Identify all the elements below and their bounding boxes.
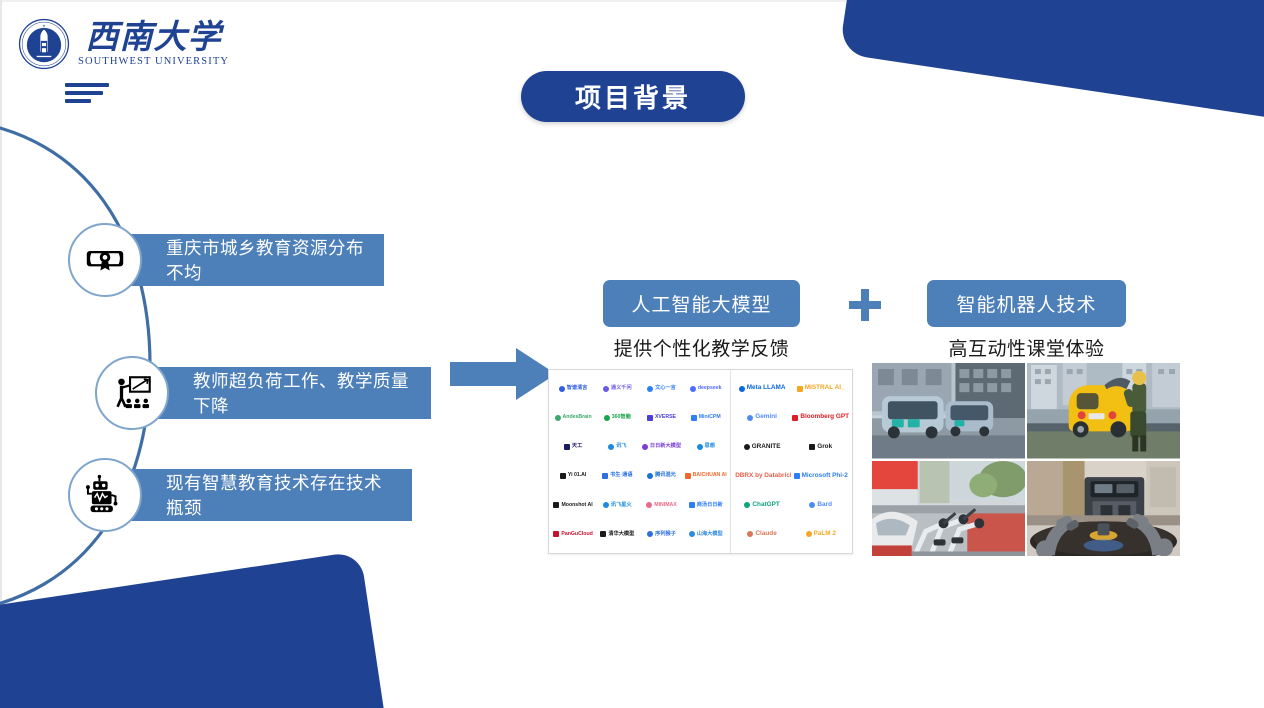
model-mark-icon — [794, 473, 800, 479]
university-logo: ★ 西南大学 SOUTHWEST UNIVERSITY — [18, 18, 229, 70]
model-logo-label: Moonshot AI — [561, 503, 592, 508]
model-logo-label: 序列猴子 — [655, 532, 676, 537]
model-logo-label: MiniCPM — [699, 415, 721, 420]
model-mark-icon — [604, 415, 610, 421]
model-mark-icon — [809, 444, 815, 450]
model-mark-icon — [744, 502, 750, 508]
problem-icon-wrap-2 — [95, 356, 169, 430]
model-logo-label: XVERSE — [655, 415, 676, 420]
domestic-model-logo: 序列猴子 — [639, 520, 683, 549]
model-logo-label: 腾讯混元 — [655, 473, 676, 478]
photo-coffee-robot-arms — [1027, 461, 1180, 557]
model-mark-icon — [646, 502, 652, 508]
model-logo-label: 智谱清言 — [567, 386, 588, 391]
decor-shape-top-right — [839, 0, 1264, 124]
technology-block-robot: 智能机器人技术 高互动性课堂体验 — [927, 280, 1126, 361]
model-logo-label: Claude — [755, 531, 776, 538]
model-logo-label: 讯飞 — [616, 444, 626, 449]
domestic-model-logo: Yi 01.AI — [551, 461, 595, 490]
university-seal-icon: ★ — [18, 18, 70, 70]
international-model-logo: Grok — [791, 432, 850, 461]
international-model-logo: DBRX by Databricks — [733, 461, 792, 490]
model-mark-icon — [642, 444, 648, 450]
model-mark-icon — [697, 444, 703, 450]
model-mark-icon — [553, 531, 559, 537]
international-model-logo: Microsoft Phi-2 — [791, 461, 850, 490]
university-name-cn: 西南大学 — [86, 21, 222, 56]
model-logo-label: deepseek — [698, 386, 722, 391]
international-model-logo: PaLM 2 — [791, 520, 850, 549]
model-logo-label: Yi 01.AI — [568, 473, 587, 478]
model-logo-label: 讯飞星火 — [611, 503, 632, 508]
international-model-logo: Meta LLAMA — [733, 374, 792, 403]
model-mark-icon — [792, 415, 798, 421]
domestic-model-logo: 商汤日日新 — [684, 491, 728, 520]
model-logo-label: Bard — [817, 502, 832, 509]
model-mark-icon — [747, 531, 753, 537]
diploma-icon — [84, 239, 126, 281]
model-logo-label: 360智脑 — [612, 415, 631, 420]
right-arrow-icon — [450, 348, 556, 400]
domestic-model-logo: 讯飞 — [595, 432, 639, 461]
photo-robotic-arms-outdoor — [872, 461, 1025, 557]
svg-text:★: ★ — [42, 24, 46, 28]
model-logo-label: 清华大模型 — [608, 532, 634, 537]
model-logo-label: MINIMAX — [654, 503, 676, 508]
model-mark-icon — [689, 502, 695, 508]
technology-title-ai: 人工智能大模型 — [603, 280, 800, 327]
problem-icon-wrap-1 — [68, 223, 142, 297]
model-mark-icon — [647, 415, 653, 421]
model-mark-icon — [797, 386, 803, 392]
photo-autonomous-shuttle-buses — [872, 363, 1025, 459]
domestic-model-logos: 智谱清言通义千问文心一言deepseekAndesBrain360智脑XVERS… — [549, 370, 731, 553]
model-mark-icon — [744, 444, 750, 450]
international-model-logo: ChatGPT — [733, 491, 792, 520]
model-mark-icon — [647, 473, 653, 479]
domestic-model-logo: 日日新大模型 — [639, 432, 683, 461]
university-name-en: SOUTHWEST UNIVERSITY — [78, 56, 229, 67]
domestic-model-logo: 通义千问 — [595, 374, 639, 403]
model-logo-label: PanGuCloud — [561, 532, 592, 537]
model-mark-icon — [564, 444, 570, 450]
slide-root: ★ 西南大学 SOUTHWEST UNIVERSITY 项目背景 重庆市城乡教育… — [0, 0, 1264, 708]
technology-subtitle-ai: 提供个性化教学反馈 — [603, 334, 800, 361]
domestic-model-logo: 天工 — [551, 432, 595, 461]
teacher-icon — [111, 372, 153, 414]
technology-block-ai: 人工智能大模型 提供个性化教学反馈 — [603, 280, 800, 361]
model-logo-label: 通义千问 — [611, 386, 632, 391]
domestic-model-logo: Moonshot AI — [551, 491, 595, 520]
model-mark-icon — [809, 502, 815, 508]
model-mark-icon — [739, 386, 745, 392]
model-mark-icon — [647, 531, 653, 537]
domestic-model-logo: PanGuCloud — [551, 520, 595, 549]
model-logo-label: 商汤日日新 — [697, 503, 723, 508]
model-logo-label: Meta LLAMA — [747, 385, 786, 392]
domestic-model-logo: 思想 — [684, 432, 728, 461]
technology-subtitle-robot: 高互动性课堂体验 — [927, 334, 1126, 361]
model-mark-icon — [690, 386, 696, 392]
model-mark-icon — [559, 386, 565, 392]
model-logo-label: 思想 — [705, 444, 715, 449]
robot-icon — [84, 474, 126, 516]
plus-icon — [849, 289, 881, 321]
model-logo-label: Bloomberg GPT — [800, 414, 849, 421]
model-mark-icon — [806, 531, 812, 537]
international-model-logo: Bloomberg GPT — [791, 403, 850, 432]
model-logo-label: ChatGPT — [752, 502, 779, 509]
model-logo-label: BAICHUAN AI — [693, 473, 727, 478]
model-mark-icon — [560, 473, 566, 479]
model-logo-label: Microsoft Phi-2 — [802, 473, 848, 480]
model-mark-icon — [747, 415, 753, 421]
domestic-model-logo: 清华大模型 — [595, 520, 639, 549]
page-title-text: 项目背景 — [575, 78, 691, 115]
model-mark-icon — [600, 531, 606, 537]
model-logo-label: Gemini — [755, 414, 777, 421]
international-model-logo: Claude — [733, 520, 792, 549]
photo-yellow-delivery-robot — [1027, 363, 1180, 459]
international-model-logo: MISTRAL AI_ — [791, 374, 850, 403]
problem-label-2: 教师超负荷工作、教学质量下降 — [131, 367, 431, 419]
domestic-model-logo: BAICHUAN AI — [684, 461, 728, 490]
model-mark-icon — [647, 386, 653, 392]
model-mark-icon — [553, 502, 559, 508]
model-mark-icon — [555, 415, 561, 421]
model-logo-label: 书生·通语 — [610, 473, 632, 478]
problem-label-1: 重庆市城乡教育资源分布不均 — [104, 234, 384, 286]
problem-icon-wrap-3 — [68, 458, 142, 532]
model-mark-icon — [608, 444, 614, 450]
domestic-model-logo: deepseek — [684, 374, 728, 403]
model-mark-icon — [602, 473, 608, 479]
domestic-model-logo: XVERSE — [639, 403, 683, 432]
domestic-model-logo: AndesBrain — [551, 403, 595, 432]
domestic-model-logo: MINIMAX — [639, 491, 683, 520]
robot-photo-grid — [872, 363, 1180, 556]
model-logo-label: AndesBrain — [563, 415, 592, 420]
model-mark-icon — [603, 502, 609, 508]
page-title: 项目背景 — [521, 71, 745, 122]
model-logo-label: 文心一言 — [655, 386, 676, 391]
model-logo-label: MISTRAL AI_ — [805, 385, 845, 392]
model-mark-icon — [689, 531, 695, 537]
domestic-model-logo: 智谱清言 — [551, 374, 595, 403]
model-logo-label: PaLM 2 — [814, 531, 836, 538]
international-model-logo: GRANITE — [733, 432, 792, 461]
domestic-model-logo: 山海大模型 — [684, 520, 728, 549]
domestic-model-logo: 书生·通语 — [595, 461, 639, 490]
domestic-model-logo: 腾讯混元 — [639, 461, 683, 490]
model-mark-icon — [603, 386, 609, 392]
domestic-model-logo: 讯飞星火 — [595, 491, 639, 520]
domestic-model-logo: 360智脑 — [595, 403, 639, 432]
technology-title-robot: 智能机器人技术 — [927, 280, 1126, 327]
domestic-model-logo: 文心一言 — [639, 374, 683, 403]
model-logo-label: Grok — [817, 444, 832, 451]
model-logo-label: 天工 — [572, 444, 582, 449]
domestic-model-logo: MiniCPM — [684, 403, 728, 432]
model-mark-icon — [691, 415, 697, 421]
model-logo-label: 山海大模型 — [697, 532, 723, 537]
international-model-logo: Gemini — [733, 403, 792, 432]
model-logo-label: GRANITE — [752, 444, 781, 451]
model-mark-icon — [685, 473, 691, 479]
model-logo-label: DBRX by Databricks — [735, 473, 791, 480]
problem-label-3: 现有智慧教育技术存在技术瓶颈 — [104, 469, 412, 521]
model-logo-label: 日日新大模型 — [650, 444, 681, 449]
ai-model-logo-board: 智谱清言通义千问文心一言deepseekAndesBrain360智脑XVERS… — [548, 369, 853, 554]
international-model-logos: Meta LLAMAMISTRAL AI_GeminiBloomberg GPT… — [731, 370, 852, 553]
international-model-logo: Bard — [791, 491, 850, 520]
